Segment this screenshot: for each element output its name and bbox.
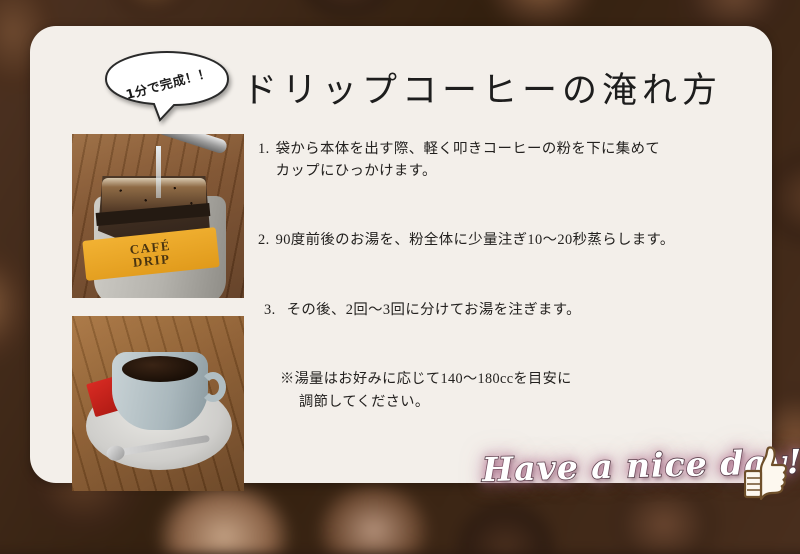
water-amount-note: ※湯量はお好みに応じて140〜180ccを目安に 調節してください。 (280, 368, 720, 413)
photo-finished-coffee: ソーサーに乗ったコーヒーカップの写真 (72, 316, 244, 491)
list-item: 2. 90度前後のお湯を、粉全体に少量注ぎ10〜20秒蒸らします。 (258, 229, 768, 251)
badge-speech-bubble: 1分で完成！！ (102, 50, 232, 124)
step-number: 2. (258, 229, 276, 251)
step-number: 3. (264, 299, 287, 321)
note-line2: 調節してください。 (280, 391, 720, 414)
photo2-coffee-surface (122, 356, 198, 382)
step-text-line2: カップにひっかけます。 (276, 160, 768, 182)
step-text: 90度前後のお湯を、粉全体に少量注ぎ10〜20秒蒸らします。 (276, 229, 768, 251)
note-line1: ※湯量はお好みに応じて140〜180ccを目安に (280, 368, 720, 391)
list-item: 1. 袋から本体を出す際、軽く叩きコーヒーの粉を下に集めて カップにひっかけます… (258, 138, 768, 183)
photo2-cup-handle (200, 372, 226, 402)
step-text: 袋から本体を出す際、軽く叩きコーヒーの粉を下に集めて カップにひっかけます。 (276, 138, 768, 183)
list-item: 3. その後、2回〜3回に分けてお湯を注ぎます。 (258, 299, 768, 321)
photo-drip-bag: CAFÉ DRIP ドリップバッグにお湯を注ぐ写真 (72, 134, 244, 298)
step-text-line1: 袋から本体を出す際、軽く叩きコーヒーの粉を下に集めて (276, 138, 768, 160)
step-text: その後、2回〜3回に分けてお湯を注ぎます。 (287, 299, 768, 321)
recipe-card: 1分で完成！！ ドリップコーヒーの淹れ方 CAFÉ DRIP ドリップバッグにお… (30, 26, 772, 483)
thumbs-up-icon (744, 445, 788, 506)
photo1-water-stream (156, 146, 161, 198)
page-title: ドリップコーヒーの淹れ方 (242, 62, 722, 113)
instruction-list: 1. 袋から本体を出す際、軽く叩きコーヒーの粉を下に集めて カップにひっかけます… (258, 138, 768, 321)
signoff-block: Have a nice day! (482, 444, 792, 506)
photo1-label-line2: DRIP (132, 252, 171, 269)
step-text-line1: 90度前後のお湯を、粉全体に少量注ぎ10〜20秒蒸らします。 (276, 229, 768, 251)
step-text-line1: その後、2回〜3回に分けてお湯を注ぎます。 (287, 299, 768, 321)
step-number: 1. (258, 138, 276, 183)
